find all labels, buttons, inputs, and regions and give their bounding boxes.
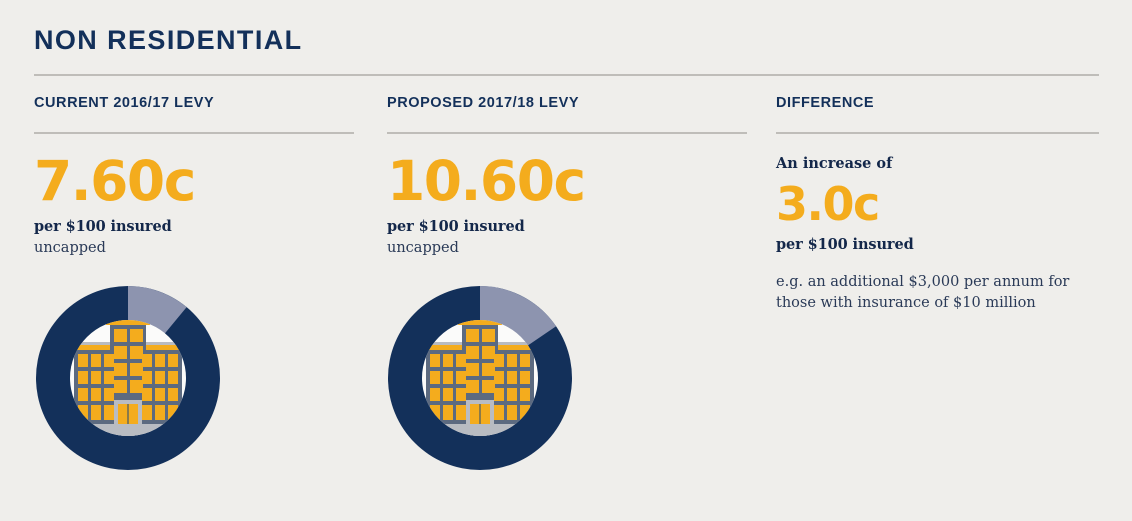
difference-note: e.g. an additional $3,000 per annum for …	[776, 272, 1099, 314]
current-levy-qualifier: uncapped	[34, 240, 354, 257]
column-divider-proposed	[387, 132, 747, 134]
current-levy-value: 7.60c	[34, 154, 354, 209]
column-current-levy: CURRENT 2016/17 LEVY 7.60c per $100 insu…	[34, 96, 354, 258]
proposed-levy-donut-svg	[388, 286, 572, 470]
proposed-levy-donut	[388, 286, 572, 470]
increase-label: An increase of	[776, 155, 1099, 172]
current-levy-donut-svg	[36, 286, 220, 470]
difference-unit: per $100 insured	[776, 236, 1099, 253]
proposed-levy-value: 10.60c	[387, 154, 747, 209]
column-divider-difference	[776, 132, 1099, 134]
column-heading-proposed: PROPOSED 2017/18 LEVY	[387, 96, 747, 112]
column-difference: DIFFERENCE An increase of 3.0c per $100 …	[776, 96, 1099, 314]
current-levy-donut	[36, 286, 220, 470]
page-title: NON RESIDENTIAL	[34, 26, 303, 56]
column-divider-current	[34, 132, 354, 134]
column-heading-current: CURRENT 2016/17 LEVY	[34, 96, 354, 112]
proposed-levy-qualifier: uncapped	[387, 240, 747, 257]
column-proposed-levy: PROPOSED 2017/18 LEVY 10.60c per $100 in…	[387, 96, 747, 258]
difference-value: 3.0c	[776, 181, 1099, 227]
title-divider	[34, 74, 1099, 76]
current-levy-unit: per $100 insured	[34, 218, 354, 235]
proposed-levy-unit: per $100 insured	[387, 218, 747, 235]
column-heading-difference: DIFFERENCE	[776, 96, 1099, 112]
infographic-canvas: NON RESIDENTIAL CURRENT 2016/17 LEVY 7.6…	[0, 0, 1132, 521]
